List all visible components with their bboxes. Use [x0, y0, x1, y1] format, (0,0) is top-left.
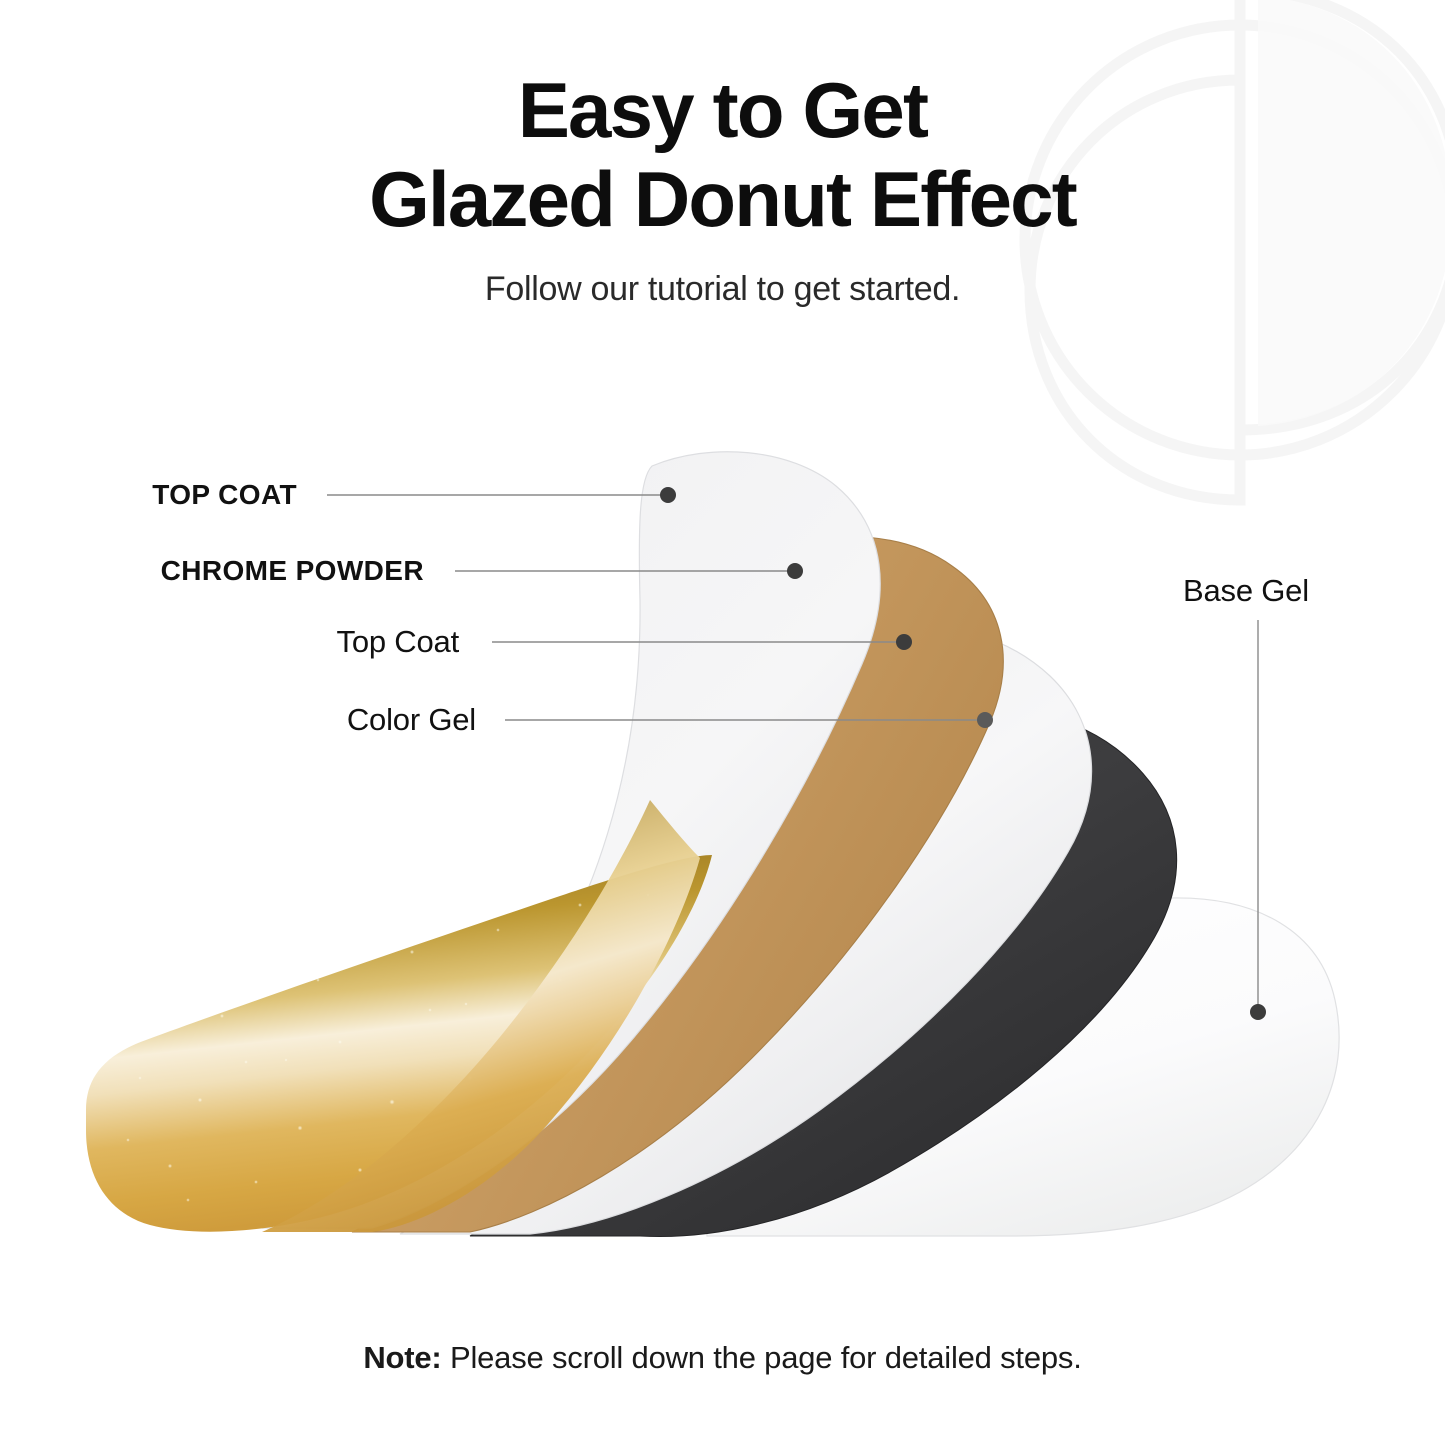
- label-color-gel: Color Gel: [347, 702, 476, 738]
- label-top-coat-inner: Top Coat: [337, 624, 459, 660]
- leader-dot-color-gel: [977, 712, 993, 728]
- footer-note: Note: Please scroll down the page for de…: [0, 1340, 1445, 1376]
- label-top-coat-outer: TOP COAT: [152, 479, 297, 511]
- leader-dot-base-gel: [1250, 1004, 1266, 1020]
- infographic-page: Easy to Get Glazed Donut Effect Follow o…: [0, 0, 1445, 1445]
- label-chrome-powder: CHROME POWDER: [161, 555, 424, 587]
- label-base-gel: Base Gel: [1183, 573, 1309, 609]
- note-prefix: Note:: [363, 1340, 441, 1375]
- leader-dot-top-coat-outer: [660, 487, 676, 503]
- leader-dot-chrome-powder: [787, 563, 803, 579]
- leader-dot-top-coat-inner: [896, 634, 912, 650]
- note-text: Please scroll down the page for detailed…: [442, 1340, 1082, 1375]
- nail-layers-illustration: [0, 0, 1445, 1445]
